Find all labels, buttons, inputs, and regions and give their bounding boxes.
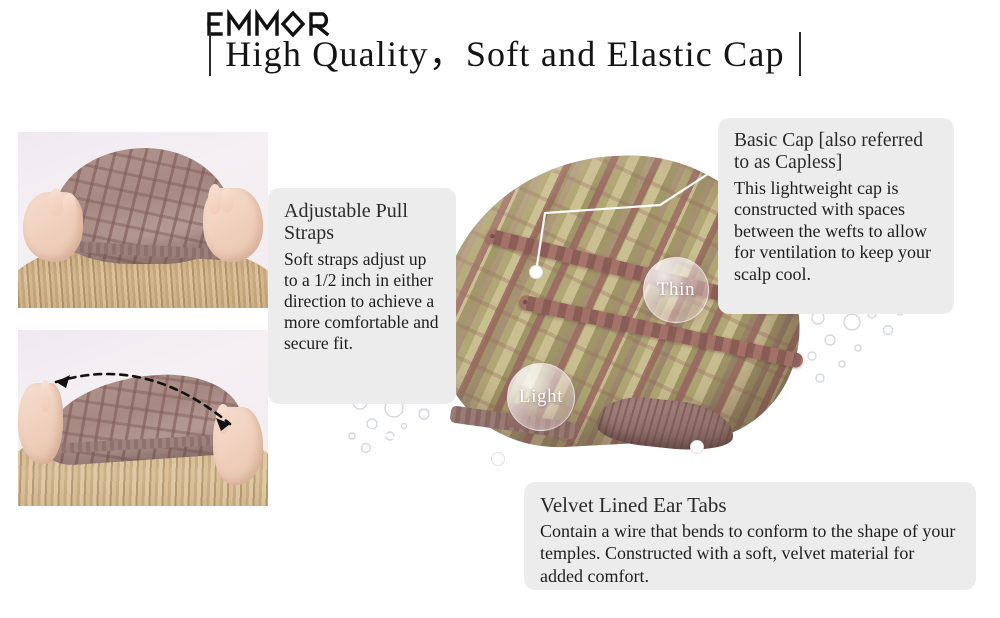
header: High Quality，Soft and Elastic Cap: [0, 0, 1000, 96]
callout-adjustable-pull-straps: Adjustable Pull Straps Soft straps adjus…: [268, 188, 456, 404]
callout-body: This lightweight cap is constructed with…: [734, 178, 938, 286]
title-rule-left: [209, 32, 211, 76]
stretch-direction-arrow: [18, 330, 268, 506]
page-title-text: High Quality，Soft and Elastic Cap: [225, 36, 785, 72]
callout-title: Adjustable Pull Straps: [284, 200, 440, 245]
photo-wig-cap-stretch-view: [18, 330, 268, 506]
badge-light-label: Light: [519, 386, 563, 408]
badge-light: Light: [507, 363, 575, 431]
callout-velvet-lined-ear-tabs: Velvet Lined Ear Tabs Contain a wire tha…: [524, 482, 976, 590]
page-title: High Quality，Soft and Elastic Cap: [150, 28, 860, 80]
callout-body: Soft straps adjust up to a 1/2 inch in e…: [284, 249, 440, 354]
product-infographic: High Quality，Soft and Elastic Cap: [0, 0, 1000, 618]
hand-right: [203, 188, 263, 262]
photo-wig-cap-top-view: [18, 132, 268, 308]
hand-left: [23, 192, 83, 262]
callout-title: Basic Cap [also referred to as Capless]: [734, 130, 938, 174]
callout-body: Contain a wire that bends to conform to …: [540, 520, 960, 588]
badge-thin-label: Thin: [657, 279, 695, 301]
badge-thin: Thin: [643, 257, 709, 323]
callout-title: Velvet Lined Ear Tabs: [540, 494, 960, 518]
callout-basic-cap: Basic Cap [also referred to as Capless] …: [718, 118, 954, 314]
title-rule-right: [799, 32, 801, 76]
